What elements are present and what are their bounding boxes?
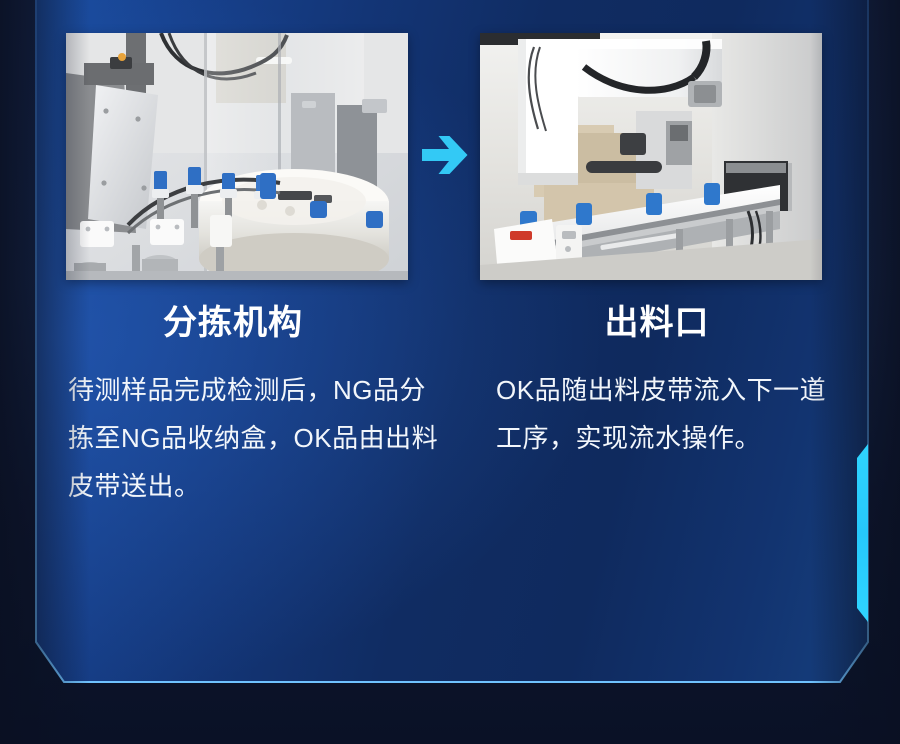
photo-row: [0, 0, 900, 300]
column-title-discharge-outlet: 出料口: [496, 300, 818, 346]
column-sorting-mechanism: 分拣机构 待测样品完成检测后，NG品分拣至NG品收纳盒，OK品由出料皮带送出。: [68, 300, 438, 510]
accent-bar: [857, 444, 868, 622]
column-body-sorting-mechanism: 待测样品完成检测后，NG品分拣至NG品收纳盒，OK品由出料皮带送出。: [68, 366, 440, 510]
discharge-outlet-photo: [480, 33, 822, 280]
column-discharge-outlet: 出料口 OK品随出料皮带流入下一道工序，实现流水操作。: [496, 300, 846, 462]
column-body-discharge-outlet: OK品随出料皮带流入下一道工序，实现流水操作。: [496, 366, 846, 462]
column-title-sorting-mechanism: 分拣机构: [68, 300, 398, 346]
page-stage: 分拣机构 待测样品完成检测后，NG品分拣至NG品收纳盒，OK品由出料皮带送出。 …: [0, 0, 900, 744]
arrow-right-icon: [420, 132, 470, 178]
sorting-mechanism-photo: [66, 33, 408, 280]
